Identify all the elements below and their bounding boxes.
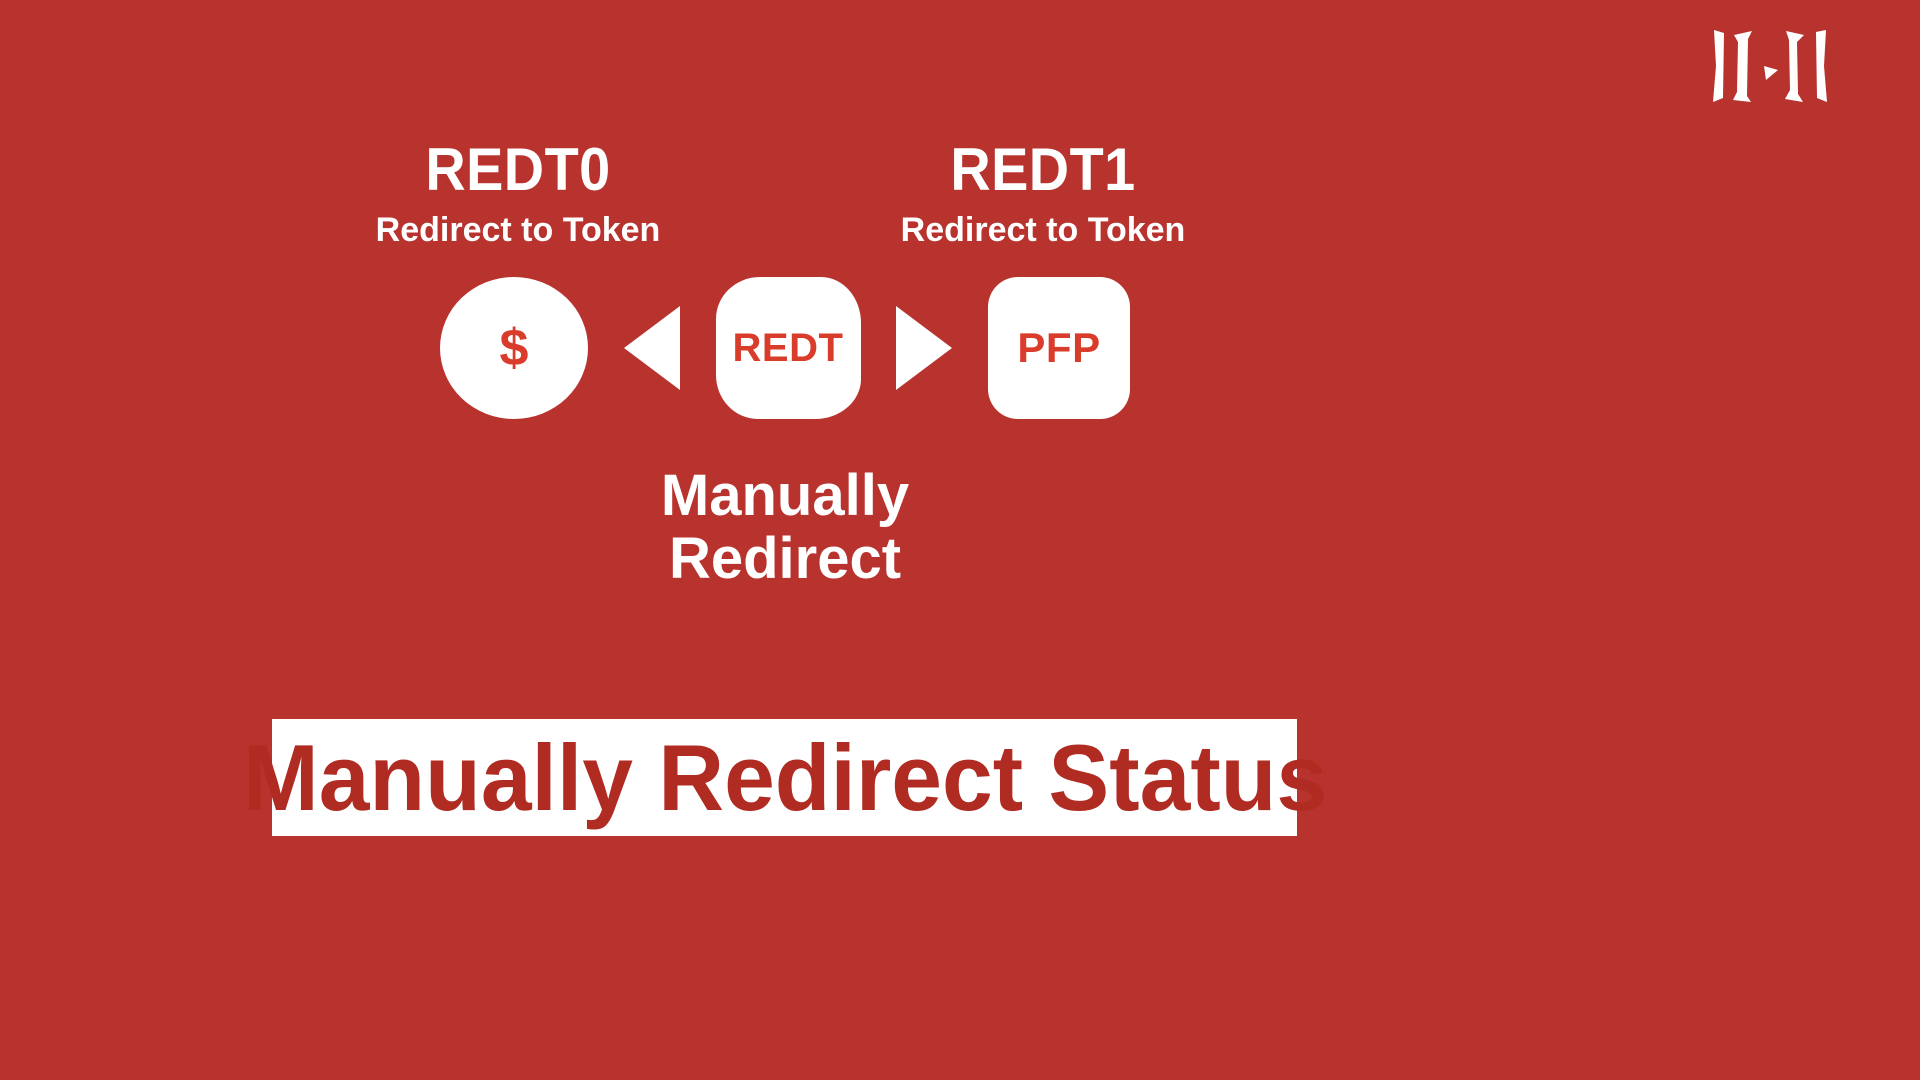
triangle-left-icon (624, 306, 680, 390)
pfp-token-icon: PFP (988, 277, 1130, 419)
pfp-token-label: PFP (1017, 324, 1100, 372)
dollar-token-icon: $ (440, 277, 588, 419)
redt-token-icon: REDT (716, 277, 861, 419)
flow-caption: Manually Redirect (585, 465, 985, 590)
flow-caption-line-2: Redirect (585, 528, 985, 591)
eleven-eleven-brush-logo-icon (1704, 26, 1834, 106)
column-heading-redt0: REDT0 Redirect to Token (268, 138, 768, 252)
column-subtitle: Redirect to Token (793, 209, 1293, 252)
flow-caption-line-1: Manually (585, 465, 985, 528)
column-title: REDT0 (286, 138, 751, 201)
status-banner: Manually Redirect Status (272, 719, 1297, 836)
column-subtitle: Redirect to Token (268, 209, 768, 252)
column-title: REDT1 (811, 138, 1276, 201)
column-heading-redt1: REDT1 Redirect to Token (793, 138, 1293, 252)
dollar-token-label: $ (500, 318, 529, 378)
token-flow-diagram: $ REDT PFP (440, 277, 1130, 419)
slide-canvas: REDT0 Redirect to Token REDT1 Redirect t… (0, 0, 1920, 1080)
triangle-right-icon (896, 306, 952, 390)
redt-token-label: REDT (733, 326, 844, 371)
status-banner-title: Manually Redirect Status (242, 731, 1326, 825)
